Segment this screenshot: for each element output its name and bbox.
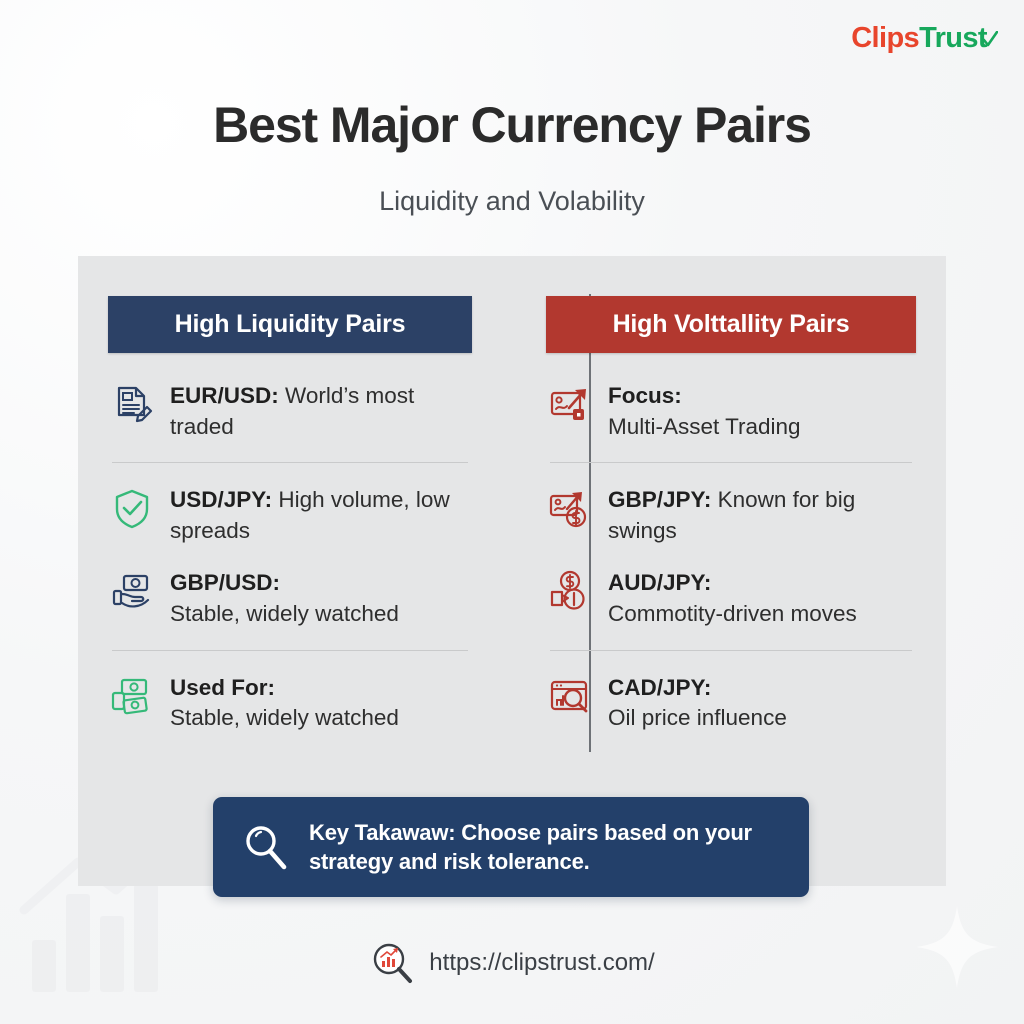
dollar-info-coins-icon: [546, 568, 594, 616]
shield-check-icon: [108, 485, 156, 533]
footer-url[interactable]: https://clipstrust.com/: [429, 949, 654, 977]
page-title: Best Major Currency Pairs: [0, 96, 1024, 154]
column-header-high-volatility: High Volttallity Pairs: [546, 296, 916, 353]
banknotes-icon: [108, 673, 156, 721]
hand-money-icon: [108, 568, 156, 616]
list-item-text: CAD/JPY: Oil price influence: [608, 671, 787, 734]
list-item-desc: Stable, widely watched: [170, 705, 399, 730]
list-item-text: GBP/USD: Stable, widely watched: [170, 566, 399, 629]
item-spacer: [108, 546, 472, 566]
list-item-text: Used For: Stable, widely watched: [170, 671, 399, 734]
list-item-text: Focus: Multi-Asset Trading: [608, 379, 801, 442]
list-item-label: AUD/JPY:: [608, 570, 711, 595]
column-header-high-liquidity: High Liquidity Pairs: [108, 296, 472, 353]
list-item-text: AUD/JPY: Commotity-driven moves: [608, 566, 857, 629]
list-item[interactable]: USD/JPY: High volume, low spreads: [108, 483, 472, 546]
chart-dollar-coin-icon: [546, 485, 594, 533]
document-pencil-icon: [108, 381, 156, 429]
item-list-right: Focus: Multi-Asset Trading: [546, 379, 916, 734]
comparison-card: High Liquidity Pairs: [78, 256, 946, 886]
item-separator: [112, 650, 468, 651]
list-item-desc: Oil price influence: [608, 705, 787, 730]
list-item[interactable]: Focus: Multi-Asset Trading: [546, 379, 916, 442]
checkmark-icon: [982, 24, 998, 42]
chart-arrow-up-icon: [546, 381, 594, 429]
list-item[interactable]: CAD/JPY: Oil price influence: [546, 671, 916, 734]
list-item-desc: Multi-Asset Trading: [608, 414, 801, 439]
list-item[interactable]: EUR/USD: World’s most traded: [108, 379, 472, 442]
item-separator: [550, 650, 912, 651]
item-separator: [112, 462, 468, 463]
magnifier-icon: [239, 821, 291, 873]
list-item-desc: Commotity-driven moves: [608, 601, 857, 626]
item-spacer: [546, 546, 916, 566]
list-item[interactable]: AUD/JPY: Commotity-driven moves: [546, 566, 916, 629]
infographic-page: ClipsTrust Best Major Currency Pairs Liq…: [0, 0, 1024, 1024]
list-item-label: EUR/USD:: [170, 383, 279, 408]
list-item-text: GBP/JPY: Known for big swings: [608, 483, 916, 546]
brand-logo[interactable]: ClipsTrust: [851, 22, 998, 55]
page-subtitle: Liquidity and Volability: [0, 186, 1024, 217]
list-item-label: Focus:: [608, 383, 682, 408]
list-item[interactable]: GBP/JPY: Known for big swings: [546, 483, 916, 546]
item-separator: [550, 462, 912, 463]
list-item-text: USD/JPY: High volume, low spreads: [170, 483, 472, 546]
column-high-liquidity: High Liquidity Pairs: [78, 256, 512, 886]
logo-text-trust: Trust: [919, 22, 987, 54]
list-item-label: GBP/JPY:: [608, 487, 711, 512]
item-list-left: EUR/USD: World’s most traded: [108, 379, 472, 734]
list-item-label: Used For:: [170, 675, 275, 700]
key-takeaway-text: Key Takawaw: Choose pairs based on your …: [309, 818, 783, 877]
list-item-label: USD/JPY:: [170, 487, 272, 512]
magnifier-chart-icon: [369, 940, 415, 986]
footer: https://clipstrust.com/: [0, 940, 1024, 986]
list-item-label: CAD/JPY:: [608, 675, 711, 700]
list-item-desc: Stable, widely watched: [170, 601, 399, 626]
logo-text-clips: Clips: [851, 22, 919, 54]
list-item[interactable]: GBP/USD: Stable, widely watched: [108, 566, 472, 629]
list-item-label: GBP/USD:: [170, 570, 280, 595]
key-takeaway-banner: Key Takawaw: Choose pairs based on your …: [213, 797, 809, 897]
list-item[interactable]: Used For: Stable, widely watched: [108, 671, 472, 734]
column-high-volatility: High Volttallity Pairs: [512, 256, 946, 886]
list-item-text: EUR/USD: World’s most traded: [170, 379, 472, 442]
browser-search-icon: [546, 673, 594, 721]
